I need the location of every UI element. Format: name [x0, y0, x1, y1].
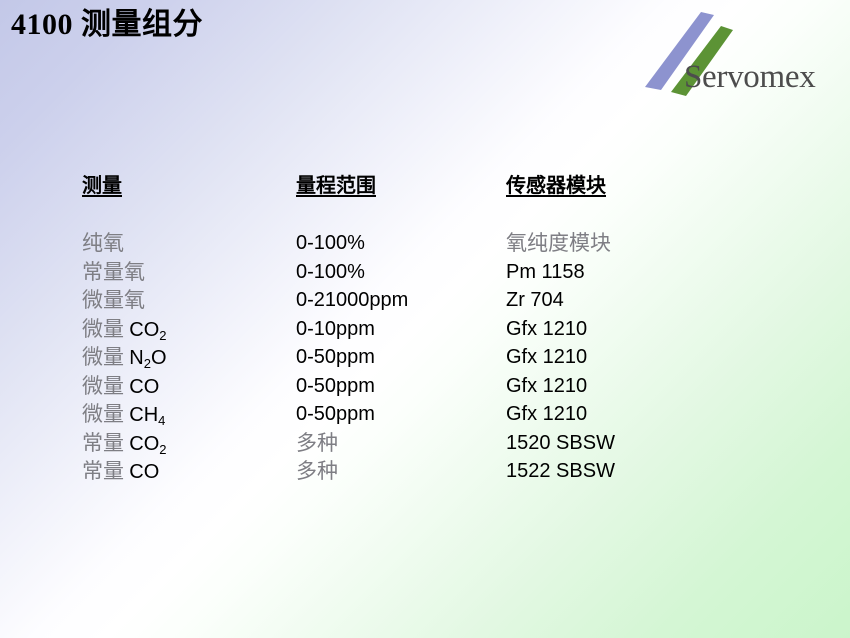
measure-label-cn: 微量: [82, 345, 129, 369]
slide-canvas: 4100 测量组分 Servomex 测量 纯氧常量氧微量氧微量 CO2微量 N…: [0, 0, 850, 638]
table-row: 微量 CH4: [82, 400, 292, 429]
measure-label-cn: 常量: [82, 431, 129, 455]
range-value: 0-100%: [296, 258, 501, 287]
module-value: 1522 SBSW: [506, 457, 756, 486]
range-value: 多种: [296, 429, 501, 458]
measure-label-cn: 微量: [82, 402, 129, 426]
measure-formula: CO: [129, 376, 159, 398]
table-row: 微量 CO2: [82, 315, 292, 344]
measure-label-cn: 微量: [82, 317, 129, 341]
measure-label-cn: 微量氧: [82, 288, 145, 312]
module-value: Gfx 1210: [506, 315, 756, 344]
measure-formula: CH4: [129, 404, 165, 426]
table-row: 纯氧: [82, 229, 292, 258]
table-row: 常量氧: [82, 258, 292, 287]
range-value: 0-50ppm: [296, 343, 501, 372]
measure-label-cn: 常量: [82, 459, 129, 483]
column-header-module: 传感器模块: [506, 174, 606, 198]
range-value: 0-50ppm: [296, 372, 501, 401]
range-value: 0-50ppm: [296, 400, 501, 429]
measure-formula: CO: [129, 461, 159, 483]
measure-formula: CO2: [129, 433, 166, 455]
measure-formula: CO2: [129, 319, 166, 341]
module-value: Zr 704: [506, 286, 756, 315]
range-value: 0-10ppm: [296, 315, 501, 344]
table-row: 常量 CO: [82, 457, 292, 486]
measure-label-cn: 微量: [82, 374, 129, 398]
column-module-cells: 氧纯度模块Pm 1158Zr 704Gfx 1210Gfx 1210Gfx 12…: [506, 229, 756, 486]
table-row: 微量氧: [82, 286, 292, 315]
range-value: 多种: [296, 457, 501, 486]
measure-label-cn: 常量氧: [82, 260, 145, 284]
column-header-range: 量程范围: [296, 174, 376, 198]
table-row: 微量 N2O: [82, 343, 292, 372]
module-value: 氧纯度模块: [506, 229, 756, 258]
module-value: Gfx 1210: [506, 343, 756, 372]
range-value: 0-100%: [296, 229, 501, 258]
module-value: Pm 1158: [506, 258, 756, 287]
module-value: Gfx 1210: [506, 400, 756, 429]
module-value: Gfx 1210: [506, 372, 756, 401]
range-value: 0-21000ppm: [296, 286, 501, 315]
column-header-measure: 测量: [82, 174, 122, 198]
table-row: 微量 CO: [82, 372, 292, 401]
components-table: 测量 纯氧常量氧微量氧微量 CO2微量 N2O微量 CO微量 CH4常量 CO2…: [0, 0, 850, 638]
measure-label-cn: 纯氧: [82, 231, 124, 255]
measure-formula: N2O: [129, 347, 166, 369]
column-range-cells: 0-100%0-100%0-21000ppm0-10ppm0-50ppm0-50…: [296, 229, 501, 486]
module-value: 1520 SBSW: [506, 429, 756, 458]
column-measure-cells: 纯氧常量氧微量氧微量 CO2微量 N2O微量 CO微量 CH4常量 CO2常量 …: [82, 229, 292, 486]
table-row: 常量 CO2: [82, 429, 292, 458]
